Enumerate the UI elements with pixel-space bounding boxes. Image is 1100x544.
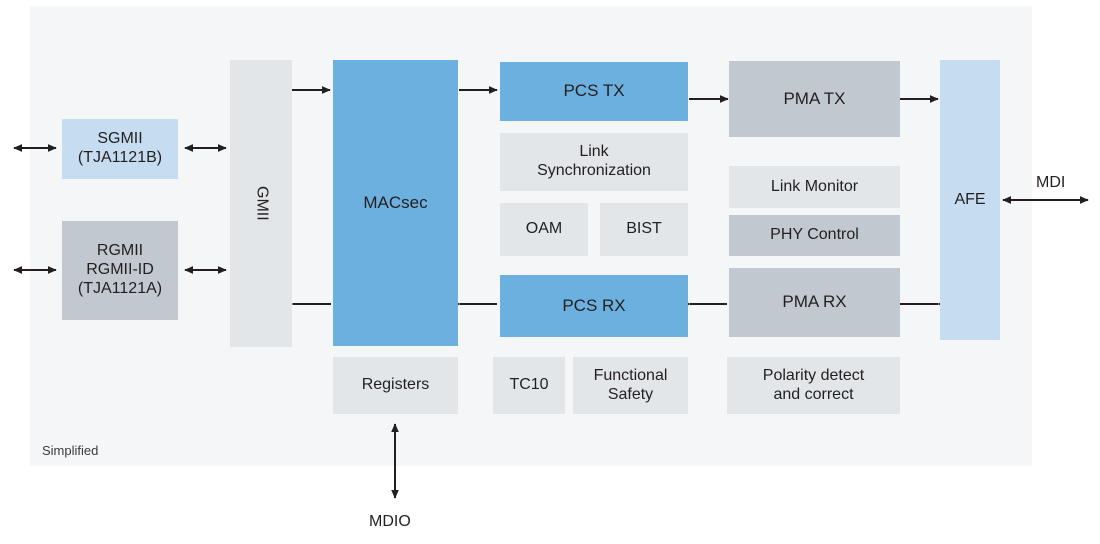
block-gmii-label: GMII bbox=[252, 186, 271, 221]
block-pma-rx-label: PMA RX bbox=[782, 292, 846, 312]
block-bist[interactable]: BIST bbox=[600, 203, 688, 256]
block-tc10-label: TC10 bbox=[509, 376, 548, 395]
block-registers-label: Registers bbox=[362, 376, 430, 395]
block-link-monitor-label: Link Monitor bbox=[771, 178, 858, 197]
block-diagram-canvas: SGMII (TJA1121B) RGMII RGMII-ID (TJA1121… bbox=[0, 0, 1100, 544]
block-sgmii-label-line1: SGMII bbox=[97, 130, 142, 149]
block-sgmii-label-line2: (TJA1121B) bbox=[78, 149, 162, 168]
block-gmii[interactable]: GMII bbox=[230, 60, 292, 347]
block-pcs-tx-label: PCS TX bbox=[563, 81, 624, 101]
block-polarity-detect-and-correct[interactable]: Polarity detect and correct bbox=[727, 357, 900, 414]
block-macsec[interactable]: MACsec bbox=[333, 60, 458, 346]
block-polarity-label-line2: and correct bbox=[773, 386, 853, 405]
block-pcs-rx-label: PCS RX bbox=[562, 296, 625, 316]
block-phy-control-label: PHY Control bbox=[770, 226, 859, 245]
block-pma-rx[interactable]: PMA RX bbox=[729, 268, 900, 337]
block-tc10[interactable]: TC10 bbox=[493, 357, 565, 414]
block-rgmii[interactable]: RGMII RGMII-ID (TJA1121A) bbox=[62, 221, 178, 320]
block-link-synchronization[interactable]: Link Synchronization bbox=[500, 133, 688, 191]
block-link-sync-label-line1: Link bbox=[579, 143, 608, 162]
signal-label-mdi: MDI bbox=[1036, 174, 1065, 192]
block-link-sync-label-line2: Synchronization bbox=[537, 162, 651, 181]
block-pma-tx[interactable]: PMA TX bbox=[729, 61, 900, 137]
block-oam-label: OAM bbox=[526, 220, 562, 239]
block-pcs-tx[interactable]: PCS TX bbox=[500, 62, 688, 121]
block-bist-label: BIST bbox=[626, 220, 662, 239]
block-functional-safety-label-line2: Safety bbox=[608, 386, 653, 405]
block-registers[interactable]: Registers bbox=[333, 357, 458, 414]
block-functional-safety-label-line1: Functional bbox=[594, 367, 668, 386]
block-pma-tx-label: PMA TX bbox=[783, 89, 845, 109]
block-sgmii[interactable]: SGMII (TJA1121B) bbox=[62, 119, 178, 179]
diagram-note-simplified: Simplified bbox=[42, 443, 98, 458]
signal-label-mdio: MDIO bbox=[369, 513, 411, 531]
block-rgmii-label-line1: RGMII bbox=[97, 242, 143, 261]
block-polarity-label-line1: Polarity detect bbox=[763, 367, 864, 386]
block-afe[interactable]: AFE bbox=[940, 60, 1000, 340]
block-phy-control[interactable]: PHY Control bbox=[729, 215, 900, 256]
block-macsec-label: MACsec bbox=[363, 193, 427, 213]
block-afe-label: AFE bbox=[954, 191, 985, 210]
block-rgmii-label-line2: RGMII-ID bbox=[86, 261, 154, 280]
block-link-monitor[interactable]: Link Monitor bbox=[729, 166, 900, 208]
block-pcs-rx[interactable]: PCS RX bbox=[500, 275, 688, 337]
block-rgmii-label-line3: (TJA1121A) bbox=[78, 280, 162, 299]
block-oam[interactable]: OAM bbox=[500, 203, 588, 256]
block-functional-safety[interactable]: Functional Safety bbox=[573, 357, 688, 414]
